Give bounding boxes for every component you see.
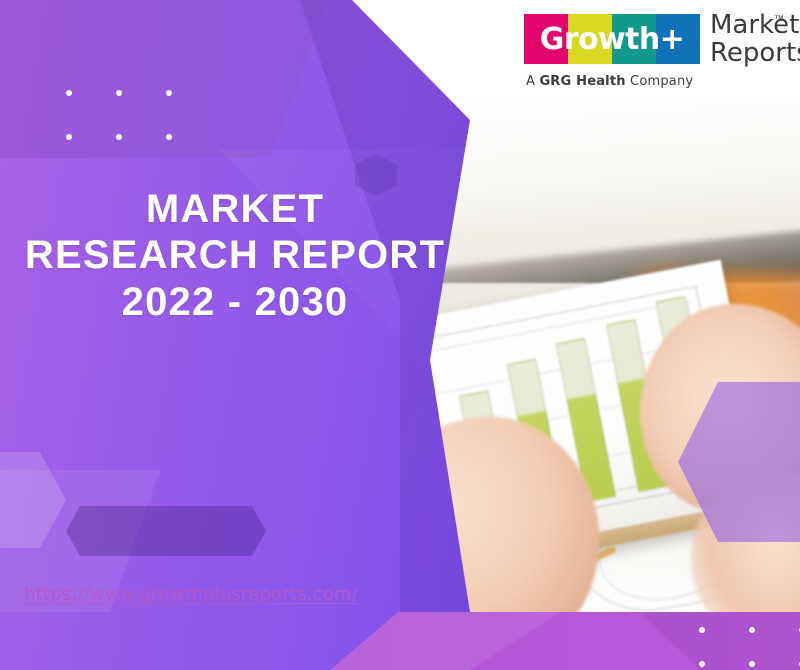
logo-brand-name: Market Reports	[710, 12, 800, 68]
tagline-suffix: Company	[626, 74, 694, 89]
logo-brand-line-1: Market	[710, 12, 800, 40]
dot	[66, 90, 72, 96]
report-cover: MARKET RESEARCH REPORT 2022 - 2030 https…	[0, 0, 800, 670]
logo-brand-line-2: Reports	[710, 40, 800, 68]
tagline-bold: GRG Health	[539, 74, 625, 89]
headline-line-3: 2022 - 2030	[0, 279, 470, 325]
dot	[166, 134, 172, 140]
hexagon-accent-elongated	[66, 506, 266, 556]
headline-line-1: MARKET	[0, 186, 470, 232]
dot	[116, 90, 122, 96]
dot	[116, 134, 122, 140]
logo-tagline: A GRG Health Company	[526, 74, 693, 89]
dot-grid-bottom-right	[699, 627, 800, 667]
tagline-prefix: A	[526, 74, 539, 89]
dot	[749, 627, 755, 633]
dot	[699, 627, 705, 633]
dot	[699, 661, 705, 667]
dot	[749, 661, 755, 667]
website-url-link[interactable]: https://www.growthplusreports.com/	[24, 584, 358, 605]
dot-grid-top-left	[66, 90, 172, 140]
headline-line-2: RESEARCH REPORT	[0, 232, 470, 278]
logo-wordmark: Growth+	[524, 14, 700, 64]
dot	[166, 90, 172, 96]
dot	[66, 134, 72, 140]
trademark-icon: ™	[774, 14, 784, 25]
growth-plus-market-reports-logo[interactable]: Growth+ Market Reports ™ A GRG Health Co…	[524, 14, 786, 100]
cover-headline: MARKET RESEARCH REPORT 2022 - 2030	[0, 186, 470, 325]
